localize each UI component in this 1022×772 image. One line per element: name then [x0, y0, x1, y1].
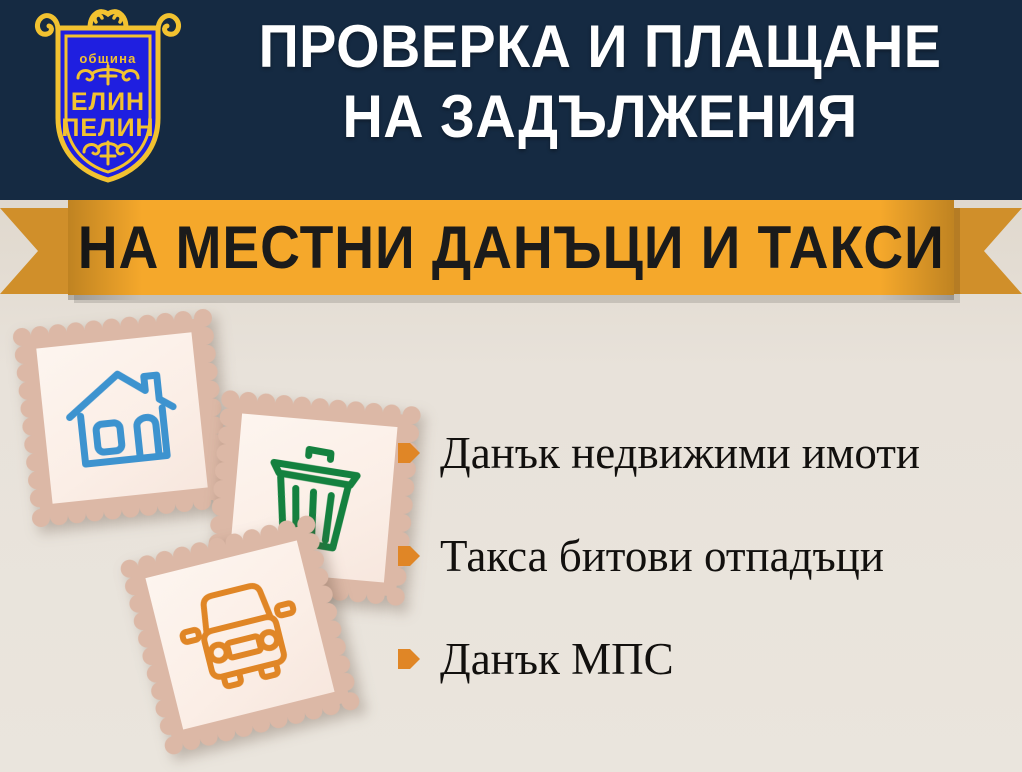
municipality-logo: община ЕЛИН ПЕЛИН — [28, 6, 188, 191]
logo-text-elin: ЕЛИН — [71, 88, 145, 116]
house-icon — [57, 358, 188, 478]
header-banner: община ЕЛИН ПЕЛИН — [0, 0, 1022, 200]
poster-canvas: община ЕЛИН ПЕЛИН — [0, 0, 1022, 772]
page-title-line1: ПРОВЕРКА И ПЛАЩАНЕ — [259, 13, 942, 80]
logo-text-pelin: ПЕЛИН — [61, 114, 154, 142]
ribbon-band: НА МЕСТНИ ДАНЪЦИ И ТАКСИ — [68, 200, 954, 295]
stamp-card-house — [12, 308, 232, 528]
car-front-icon — [167, 570, 312, 701]
logo-text-obshtina: община — [79, 51, 136, 66]
arrow-pentagon-bullet-icon — [398, 543, 420, 569]
list-item-label: Данък недвижими имоти — [440, 428, 920, 478]
page-title-line2: НА ЗАДЪЛЖЕНИЯ — [219, 82, 982, 152]
arrow-pentagon-bullet-icon — [398, 440, 420, 466]
list-item[interactable]: Данък недвижими имоти — [398, 428, 1008, 478]
list-item-label: Данък МПС — [440, 634, 674, 684]
coat-of-arms-shield-icon: община ЕЛИН ПЕЛИН — [28, 6, 188, 191]
list-item[interactable]: Такса битови отпадъци — [398, 531, 1008, 581]
subtitle-ribbon: НА МЕСТНИ ДАНЪЦИ И ТАКСИ — [0, 200, 1022, 300]
page-title: ПРОВЕРКА И ПЛАЩАНЕ НА ЗАДЪЛЖЕНИЯ — [219, 12, 982, 152]
arrow-pentagon-bullet-icon — [398, 646, 420, 672]
list-item-label: Такса битови отпадъци — [440, 531, 884, 581]
ribbon-label: НА МЕСТНИ ДАНЪЦИ И ТАКСИ — [77, 217, 944, 279]
list-item[interactable]: Данък МПС — [398, 634, 1008, 684]
tax-type-list: Данък недвижими имоти Такса битови отпад… — [398, 428, 1008, 684]
stamp-inner-house — [36, 332, 207, 503]
